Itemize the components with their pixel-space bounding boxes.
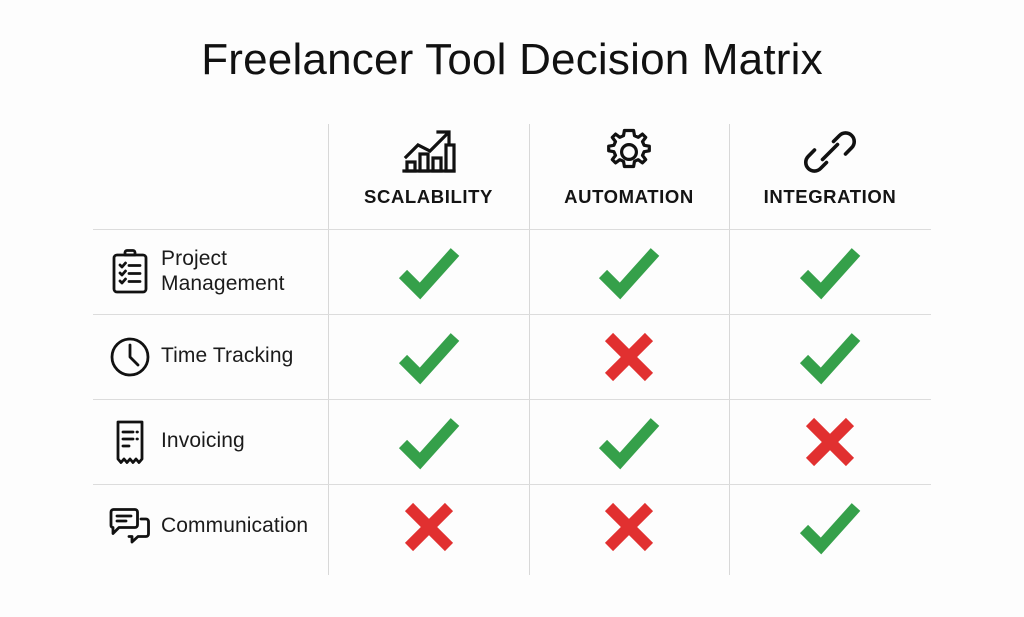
cell-time-tracking-automation[interactable] <box>529 314 729 399</box>
column-header-label: SCALABILITY <box>364 186 493 208</box>
cell-project-management-integration[interactable] <box>729 229 931 314</box>
row-header-label-line1: Invoicing <box>161 429 245 454</box>
check-icon <box>798 499 862 555</box>
check-icon <box>798 244 862 300</box>
cross-icon <box>601 499 657 555</box>
row-header-label-line2: Management <box>161 272 285 297</box>
check-icon <box>397 329 461 385</box>
row-header-time-tracking[interactable]: Time Tracking <box>93 314 328 399</box>
row-header-label: Communication <box>161 514 308 539</box>
check-icon <box>597 244 661 300</box>
cell-invoicing-integration[interactable] <box>729 399 931 484</box>
row-header-project-management[interactable]: Project Management <box>93 229 328 314</box>
cell-project-management-automation[interactable] <box>529 229 729 314</box>
check-icon <box>798 329 862 385</box>
column-header-scalability[interactable]: SCALABILITY <box>328 120 529 229</box>
cell-invoicing-scalability[interactable] <box>328 399 529 484</box>
cell-invoicing-automation[interactable] <box>529 399 729 484</box>
check-icon <box>597 414 661 470</box>
cell-time-tracking-integration[interactable] <box>729 314 931 399</box>
column-header-automation[interactable]: AUTOMATION <box>529 120 729 229</box>
row-header-label: Time Tracking <box>161 344 293 369</box>
clipboard-checklist-icon <box>107 248 153 296</box>
row-header-label-line1: Project <box>161 247 285 272</box>
cell-communication-automation[interactable] <box>529 484 729 569</box>
check-icon <box>397 244 461 300</box>
growth-chart-icon <box>400 124 458 180</box>
cell-project-management-scalability[interactable] <box>328 229 529 314</box>
chain-link-icon <box>803 124 857 180</box>
cross-icon <box>802 414 858 470</box>
clock-icon <box>107 335 153 379</box>
column-header-label: AUTOMATION <box>564 186 694 208</box>
row-header-invoicing[interactable]: Invoicing <box>93 399 328 484</box>
check-icon <box>397 414 461 470</box>
decision-matrix-page: Freelancer Tool Decision Matrix <box>0 0 1024 617</box>
column-header-integration[interactable]: INTEGRATION <box>729 120 931 229</box>
gear-icon <box>603 124 655 180</box>
chat-bubbles-icon <box>107 506 153 548</box>
cross-icon <box>401 499 457 555</box>
row-header-label: Project Management <box>161 247 285 297</box>
row-header-label-line1: Time Tracking <box>161 344 293 369</box>
decision-matrix: SCALABILITY AUTOMATION <box>93 120 931 575</box>
cell-communication-scalability[interactable] <box>328 484 529 569</box>
receipt-icon <box>107 418 153 466</box>
row-header-label: Invoicing <box>161 429 245 454</box>
row-header-label-line1: Communication <box>161 514 308 539</box>
cell-communication-integration[interactable] <box>729 484 931 569</box>
page-title: Freelancer Tool Decision Matrix <box>0 36 1024 84</box>
cross-icon <box>601 329 657 385</box>
column-header-label: INTEGRATION <box>764 186 897 208</box>
row-header-communication[interactable]: Communication <box>93 484 328 569</box>
cell-time-tracking-scalability[interactable] <box>328 314 529 399</box>
